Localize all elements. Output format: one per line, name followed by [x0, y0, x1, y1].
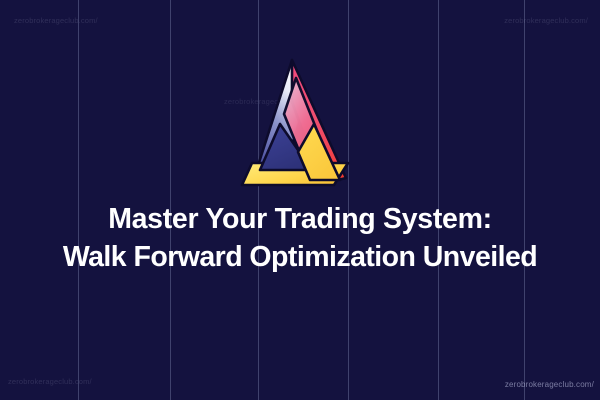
logo	[236, 54, 364, 194]
watermark-bottom-left: zerobrokerageclub.com/	[8, 377, 92, 386]
title-line-2: Walk Forward Optimization Unveiled	[0, 238, 600, 276]
promo-banner: zerobrokerageclub.com/ zerobrokerageclub…	[0, 0, 600, 400]
title-line-1: Master Your Trading System:	[0, 200, 600, 238]
watermark-bottom-right: zerobrokerageclub.com/	[505, 380, 594, 389]
penrose-triangle-icon	[236, 54, 364, 194]
watermark-top-right: zerobrokerageclub.com/	[504, 16, 588, 25]
page-title: Master Your Trading System: Walk Forward…	[0, 200, 600, 276]
watermark-top-left: zerobrokerageclub.com/	[14, 16, 98, 25]
